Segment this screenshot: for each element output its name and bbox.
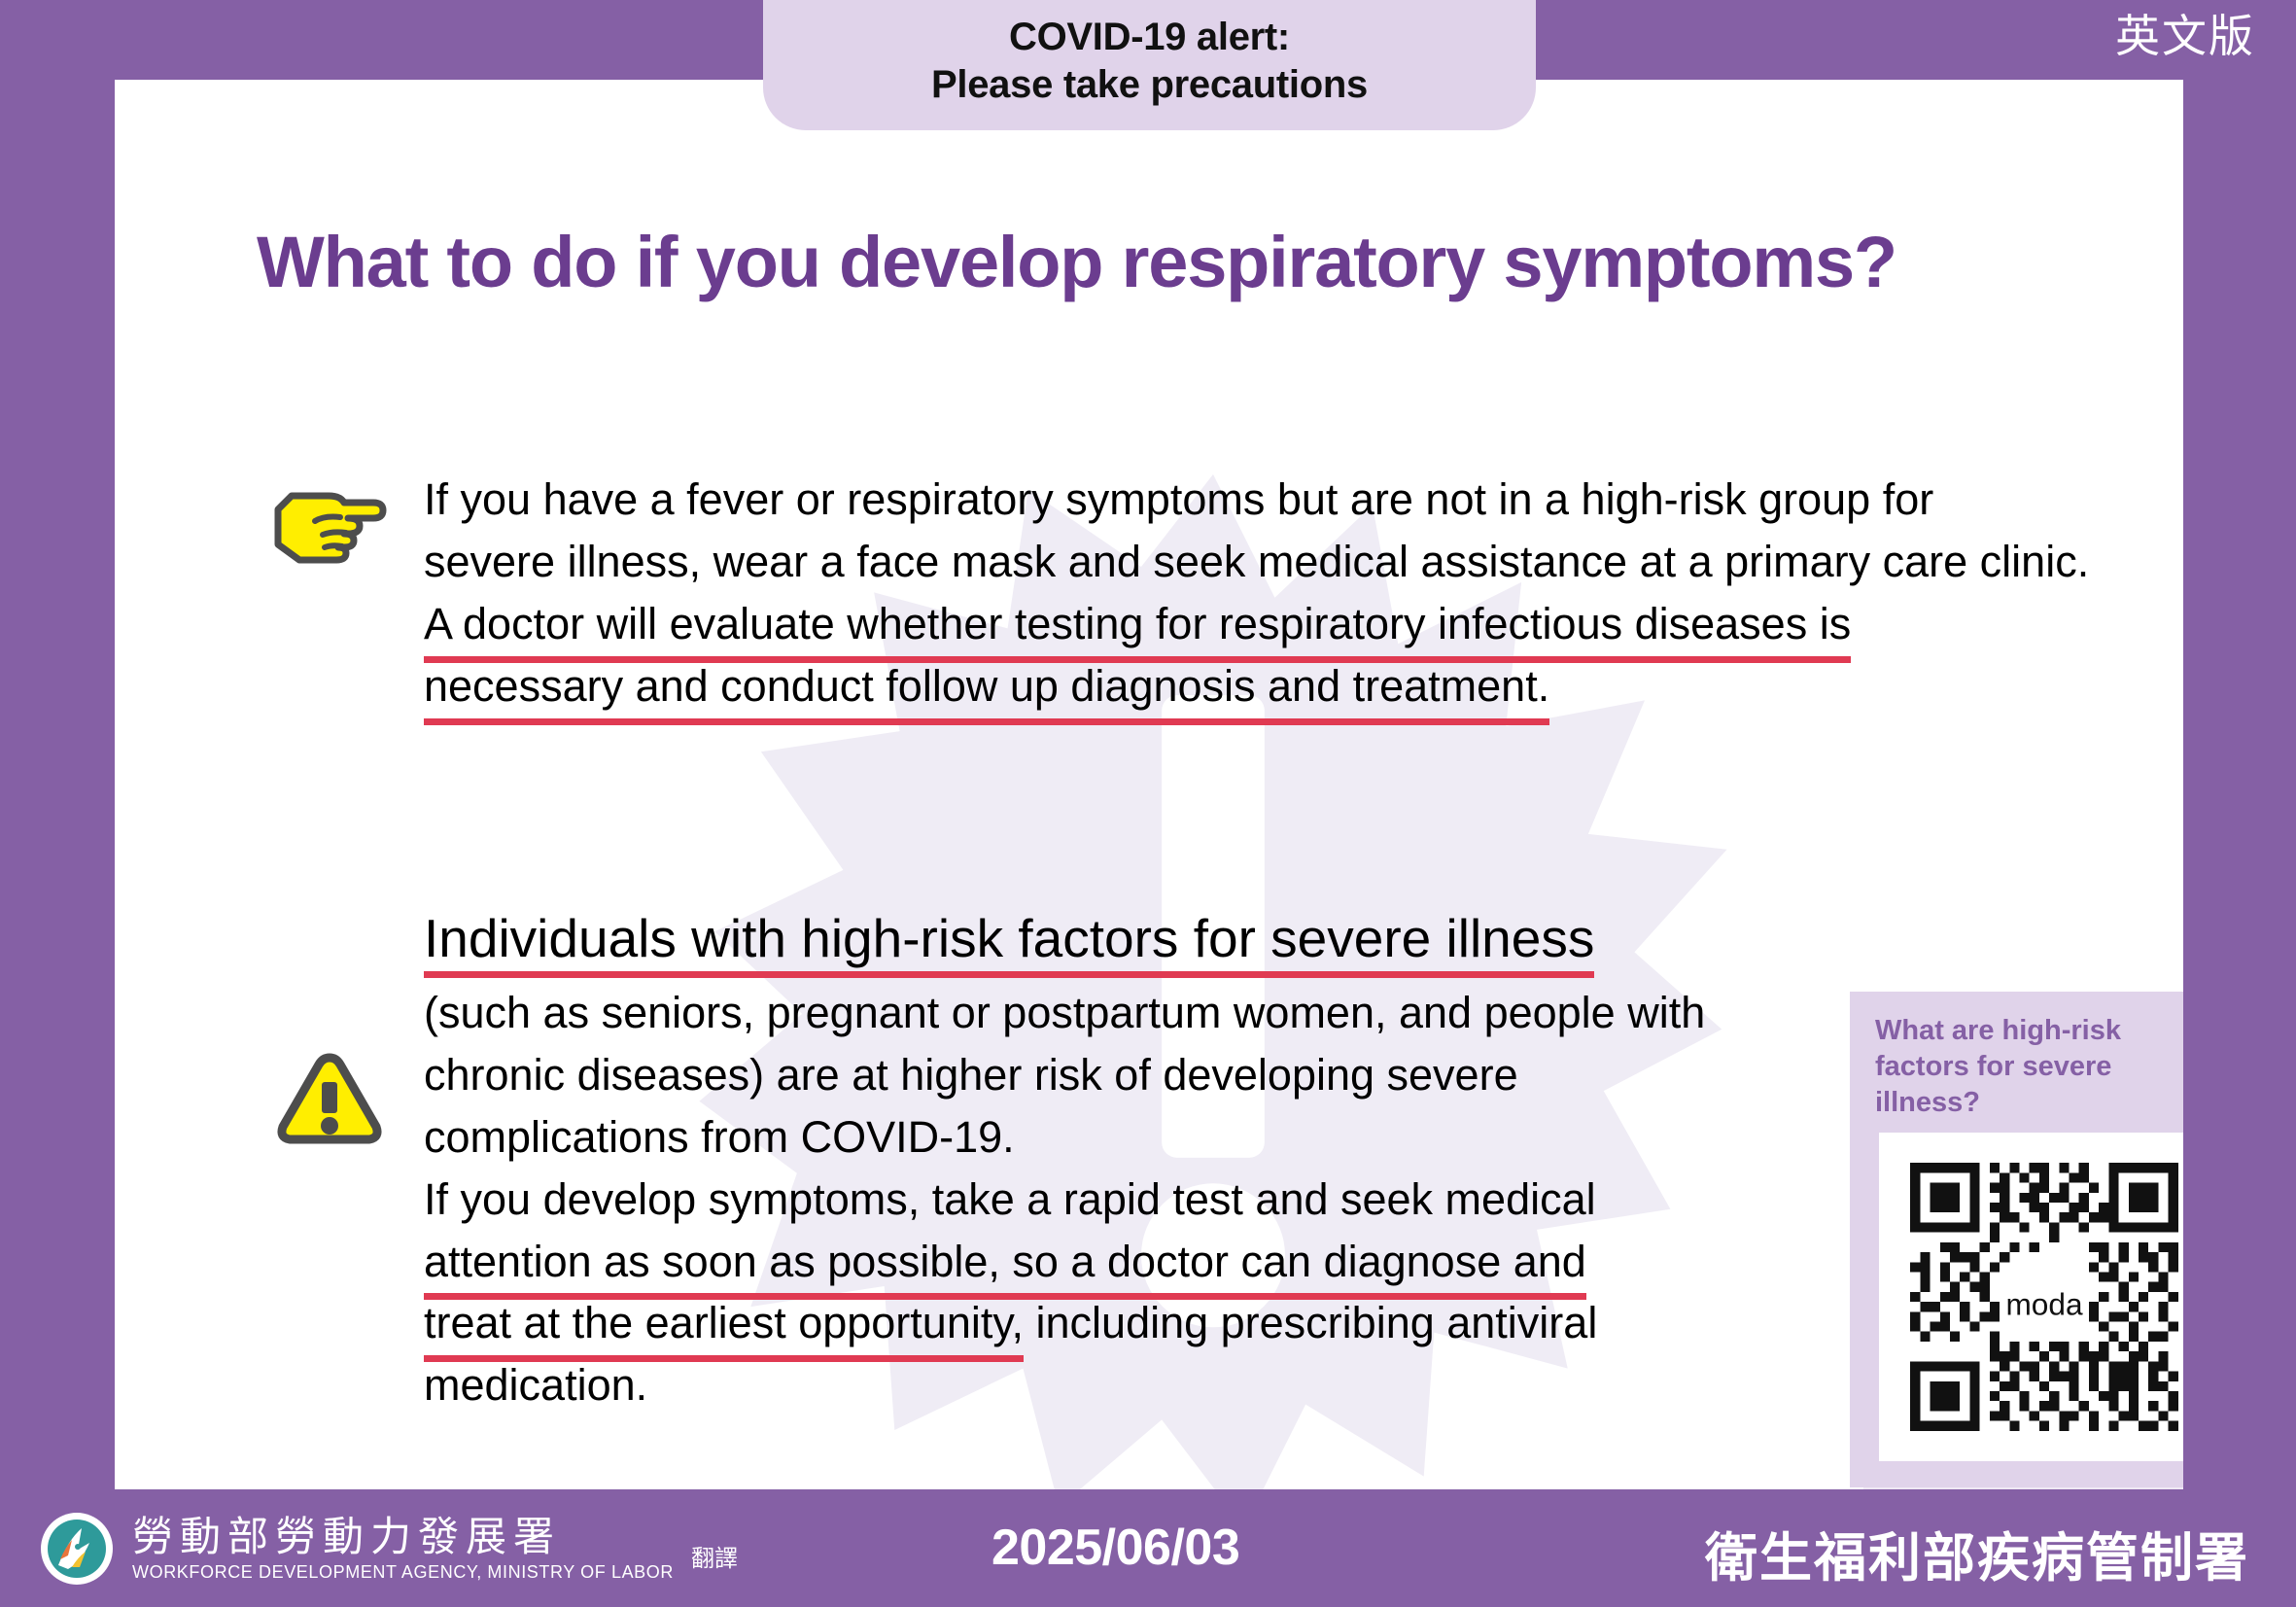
text-line: chronic diseases) are at higher risk of … <box>424 1044 1773 1106</box>
warning-triangle-icon <box>257 1050 402 1147</box>
advice-block-high-risk-text: Individuals with high-risk factors for s… <box>424 906 1773 1416</box>
text-line-partially-underlined: treat at the earliest opportunity, inclu… <box>424 1292 1773 1354</box>
pointing-hand-icon <box>257 476 402 570</box>
wda-name-en: WORKFORCE DEVELOPMENT AGENCY, MINISTRY O… <box>132 1563 674 1583</box>
covid-alert-line-2: Please take precautions <box>931 61 1368 109</box>
advice-block-general: If you have a fever or respiratory sympt… <box>257 469 2006 717</box>
page-title: What to do if you develop respiratory sy… <box>257 221 1896 303</box>
footer-bar: 勞動部勞動力發展署 WORKFORCE DEVELOPMENT AGENCY, … <box>0 1489 2296 1607</box>
qr-code-icon[interactable]: moda <box>1900 1153 2183 1441</box>
covid-alert-line-1: COVID-19 alert: <box>1009 14 1290 61</box>
text-line: severe illness, wear a face mask and see… <box>424 531 2006 593</box>
advice-block-general-text: If you have a fever or respiratory sympt… <box>424 469 2006 717</box>
text-line-underlined: necessary and conduct follow up diagnosi… <box>424 655 2006 717</box>
wda-text-group: 勞動部勞動力發展署 WORKFORCE DEVELOPMENT AGENCY, … <box>132 1515 674 1582</box>
qr-center-label: moda <box>2005 1286 2083 1321</box>
translation-note: 翻譯 <box>691 1547 738 1571</box>
language-version-badge: 英文版 <box>2115 14 2255 58</box>
text-line: If you develop symptoms, take a rapid te… <box>424 1169 1773 1231</box>
advice-block-high-risk: Individuals with high-risk factors for s… <box>257 906 1773 1416</box>
covid-alert-tab: COVID-19 alert: Please take precautions <box>763 0 1536 130</box>
wda-name-zh: 勞動部勞動力發展署 <box>132 1515 674 1558</box>
text-line: (such as seniors, pregnant or postpartum… <box>424 982 1773 1044</box>
poster-root: 英文版 What to do if you develop respirator… <box>0 0 2296 1607</box>
text-line: If you have a fever or respiratory sympt… <box>424 469 2006 531</box>
footer-agency-group: 勞動部勞動力發展署 WORKFORCE DEVELOPMENT AGENCY, … <box>39 1511 738 1587</box>
publisher-name: 衛生福利部疾病管制署 <box>1705 1515 2249 1591</box>
text-line-underlined: A doctor will evaluate whether testing f… <box>424 593 2006 655</box>
qr-code-frame[interactable]: moda <box>1879 1133 2183 1461</box>
text-line: complications from COVID-19. <box>424 1106 1773 1169</box>
high-risk-lead-line: Individuals with high-risk factors for s… <box>424 906 1773 970</box>
wda-logo-icon <box>39 1511 115 1587</box>
publish-date: 2025/06/03 <box>991 1519 1239 1577</box>
text-line: medication. <box>424 1354 1773 1416</box>
qr-info-panel[interactable]: What are high-risk factors for severe il… <box>1850 992 2183 1487</box>
qr-panel-caption: What are high-risk factors for severe il… <box>1850 992 2183 1121</box>
content-card: What to do if you develop respiratory sy… <box>115 80 2183 1489</box>
text-line-underlined: attention as soon as possible, so a doct… <box>424 1231 1773 1293</box>
